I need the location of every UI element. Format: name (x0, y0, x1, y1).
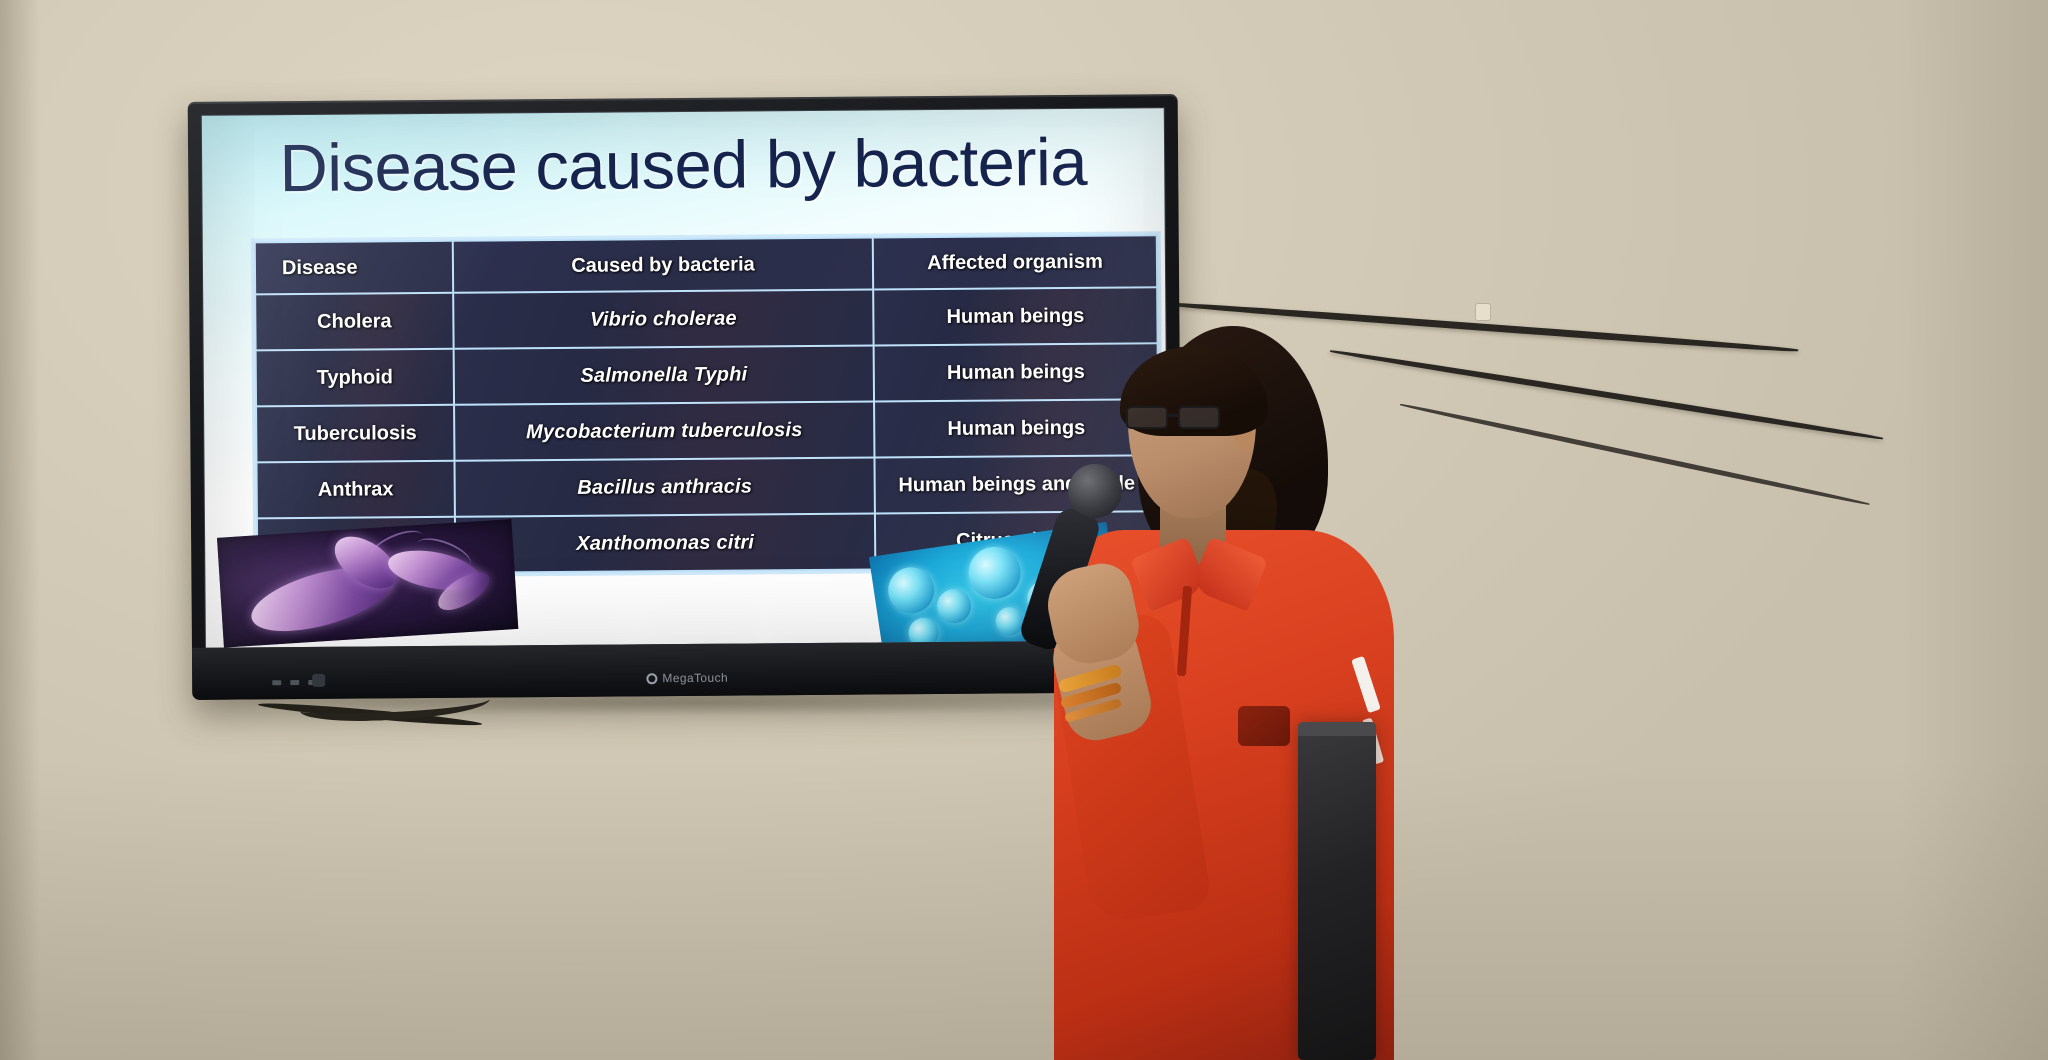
glasses-lens-left (1126, 406, 1168, 429)
slide-title: Disease caused by bacteria (202, 126, 1165, 205)
tv-control-buttons[interactable] (272, 680, 317, 685)
cell-disease: Anthrax (257, 461, 455, 519)
cell-bacteria: Bacillus anthracis (454, 458, 875, 517)
speaker-amplifier-box (1298, 722, 1376, 1060)
power-button[interactable] (272, 680, 281, 685)
shirt-logo-patch (1238, 706, 1290, 746)
cell-bacteria: Mycobacterium tuberculosis (454, 402, 875, 461)
presenter (1020, 318, 1450, 1060)
microphone-head-icon (1068, 464, 1122, 518)
ir-sensor-icon (312, 674, 325, 687)
bacteria-cell-shape (935, 587, 974, 626)
cell-bacteria: Salmonella Typhi (454, 346, 875, 405)
bacteria-cell-shape (965, 543, 1024, 602)
column-header-caused-by-bacteria: Caused by bacteria (453, 238, 874, 293)
menu-button[interactable] (290, 680, 299, 685)
cell-disease: Typhoid (256, 349, 454, 407)
tv-brand-logo: MegaTouch (646, 671, 728, 686)
cell-bacteria: Vibrio cholerae (453, 290, 874, 349)
glasses-lens-right (1178, 406, 1220, 429)
column-header-disease: Disease (255, 241, 453, 295)
bacteria-cell-shape (885, 564, 937, 616)
tv-brand-name: MegaTouch (662, 671, 728, 686)
cell-disease: Tuberculosis (256, 405, 454, 463)
column-header-affected-organism: Affected organism (873, 235, 1157, 289)
circle-mark-icon (646, 673, 657, 684)
cable-clip (1475, 303, 1491, 321)
cell-disease: Cholera (255, 293, 453, 351)
glasses-icon (1126, 406, 1234, 430)
table-header-row: Disease Caused by bacteria Affected orga… (255, 235, 1157, 294)
amplifier-top-panel (1298, 722, 1376, 736)
bacteria-micrograph-left (217, 519, 518, 648)
cell-bacteria: Xanthomonas citri (455, 514, 876, 573)
